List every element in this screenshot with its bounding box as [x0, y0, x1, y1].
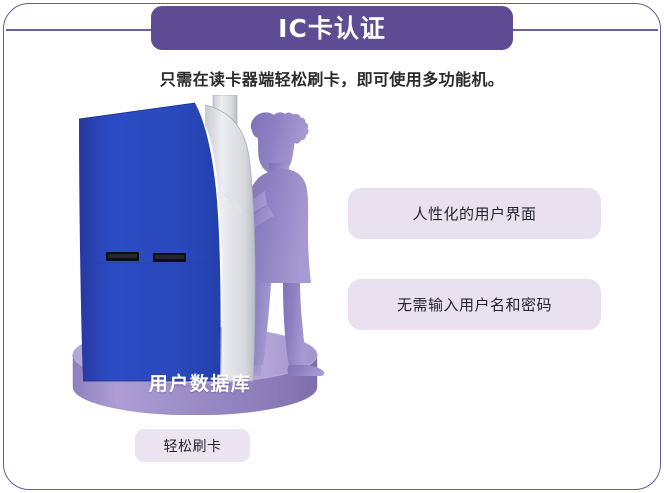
feature-label: 无需输入用户名和密码: [397, 294, 552, 315]
tag-label: 轻松刷卡: [164, 436, 222, 456]
slide-title-bar: IC卡认证: [151, 6, 513, 50]
slide-root: IC卡认证 只需在读卡器端轻松刷卡，即可使用多功能机。: [0, 0, 664, 493]
feature-label: 人性化的用户界面: [412, 203, 536, 224]
multifunction-kiosk-icon: [79, 95, 255, 381]
slide-subtitle: 只需在读卡器端轻松刷卡，即可使用多功能机。: [0, 66, 664, 90]
page-title: IC卡认证: [278, 16, 386, 41]
feature-box-no-credentials[interactable]: 无需输入用户名和密码: [348, 279, 601, 330]
tag-easy-swipe[interactable]: 轻松刷卡: [135, 429, 250, 462]
feature-box-friendly-ui[interactable]: 人性化的用户界面: [348, 188, 601, 239]
kiosk-illustration: [55, 95, 345, 415]
